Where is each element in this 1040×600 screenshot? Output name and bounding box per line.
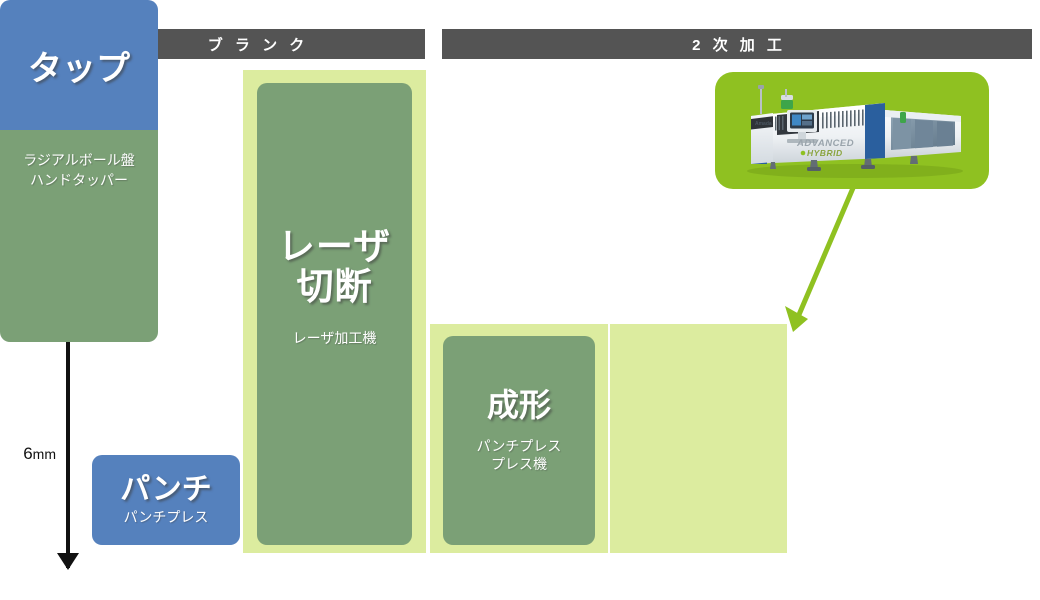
process-bar-laser[interactable]: レーザ 切断 レーザ加工機 (257, 83, 412, 545)
process-bar-tap-subtitle: ラジアルボール盤 ハンドタッパー (23, 150, 135, 191)
process-bar-tap-lower-section: ラジアルボール盤 ハンドタッパー (0, 122, 158, 342)
axis-tick-6mm-value: 6 (23, 444, 32, 463)
process-bar-punch-subtitle: パンチプレス (124, 508, 209, 526)
callout-arrow-icon (760, 180, 880, 340)
process-bar-form-title: 成形 (487, 388, 551, 423)
process-bar-punch-title: パンチ (120, 474, 212, 506)
laser-machine-photo-card: ADVANCED HYBRID Amada (715, 72, 989, 189)
process-bar-tap[interactable]: ラジアルボール盤 ハンドタッパー タップ (0, 0, 158, 342)
chart-canvas: ブ ラ ン ク 2 次 加 工 板厚大 25mm 16mm 12mm 6mm パ… (0, 0, 1040, 600)
backdrop-panel-tap (610, 324, 787, 553)
process-bar-form[interactable]: 成形 パンチプレス プレス機 (443, 336, 595, 545)
category-header-second-process: 2 次 加 工 (442, 29, 1032, 59)
process-bar-form-subtitle: パンチプレス プレス機 (477, 437, 562, 473)
process-bar-laser-title: レーザ 切断 (278, 227, 391, 307)
process-bar-laser-subtitle: レーザ加工機 (293, 329, 377, 347)
axis-tick-6mm: 6mm (23, 444, 56, 464)
svg-text:HYBRID: HYBRID (807, 148, 843, 158)
axis-tick-6mm-unit: mm (33, 446, 56, 462)
process-bar-punch[interactable]: パンチ パンチプレス (92, 455, 240, 545)
svg-text:Amada: Amada (755, 121, 772, 127)
process-bar-tap-upper-section: タップ (0, 0, 158, 130)
axis-arrow-down-icon (57, 553, 79, 570)
process-bar-tap-title: タップ (28, 41, 130, 90)
